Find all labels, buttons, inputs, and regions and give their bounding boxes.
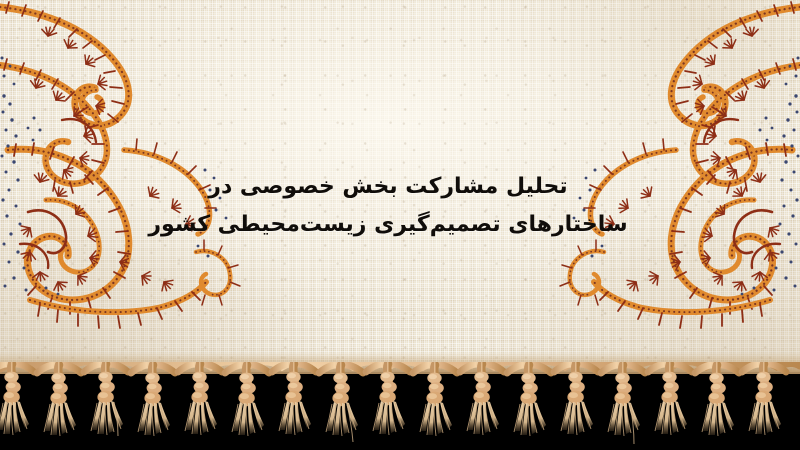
title-line-1: تحلیل مشارکت بخش خصوصی در: [0, 168, 776, 206]
title-line-2: ساختارهای تصمیم‌گیری زیست‌محیطی کشور: [0, 206, 776, 244]
fabric-hem-edge: [0, 352, 800, 374]
slide-canvas: تحلیل مشارکت بخش خصوصی در ساختارهای تصمی…: [0, 0, 800, 450]
tassel-fringe: [0, 362, 800, 450]
slide-title: تحلیل مشارکت بخش خصوصی در ساختارهای تصمی…: [0, 168, 800, 244]
